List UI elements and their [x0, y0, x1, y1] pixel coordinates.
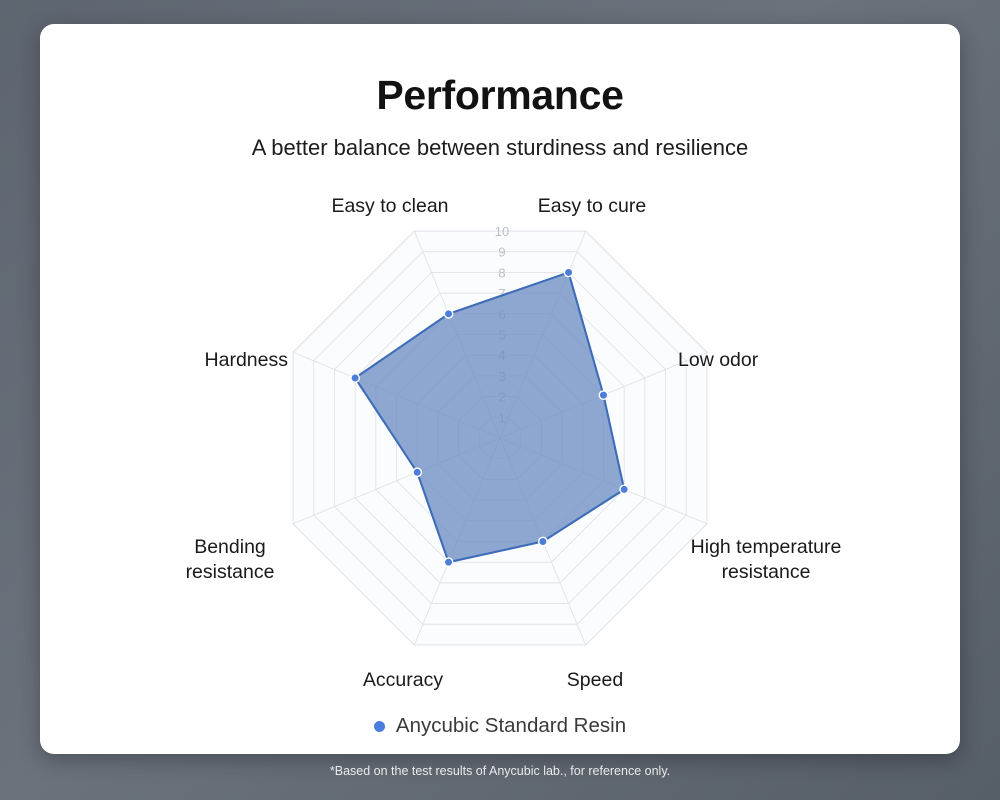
data-point-0: [564, 268, 572, 276]
footnote-text: *Based on the test results of Anycubic l…: [0, 764, 1000, 778]
legend-series-label: Anycubic Standard Resin: [396, 714, 626, 738]
legend-dot-icon: [374, 721, 385, 732]
radar-plot-svg: 12345678910: [40, 24, 960, 754]
radial-tick-label-9: 9: [498, 245, 505, 260]
axis-label-low-odor: Low odor: [678, 348, 868, 373]
axis-label-accuracy: Accuracy: [308, 668, 498, 693]
axis-label-hardness: Hardness: [98, 348, 288, 373]
radar-chart: 12345678910 Easy to clean Easy to cure L…: [40, 24, 960, 754]
data-point-7: [444, 310, 452, 318]
chart-legend: Anycubic Standard Resin: [40, 714, 960, 738]
radial-tick-label-10: 10: [495, 224, 509, 239]
data-point-6: [351, 374, 359, 382]
data-point-4: [444, 558, 452, 566]
data-point-5: [413, 468, 421, 476]
chart-card: Performance A better balance between stu…: [40, 24, 960, 754]
axis-label-bending-resistance: Bending resistance: [150, 535, 310, 585]
data-point-3: [539, 537, 547, 545]
radial-tick-label-8: 8: [498, 265, 505, 280]
axis-label-easy-to-clean: Easy to clean: [290, 194, 490, 219]
axis-label-easy-to-cure: Easy to cure: [492, 194, 692, 219]
axis-label-high-temperature-resistance: High temperature resistance: [686, 535, 846, 585]
data-point-2: [620, 485, 628, 493]
data-point-1: [599, 391, 607, 399]
axis-label-speed: Speed: [500, 668, 690, 693]
